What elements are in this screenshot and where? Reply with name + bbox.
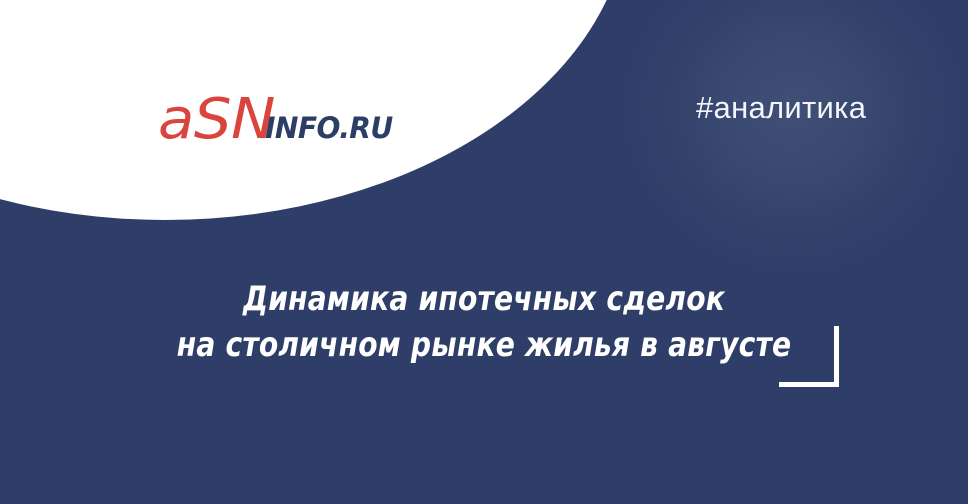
asninfo-logo[interactable]: aSNINFO.RU	[158, 92, 397, 150]
radial-glow	[618, 0, 968, 280]
hashtag-label[interactable]: #аналитика	[696, 92, 866, 123]
page-title-line-1: Динамика ипотечных сделок	[39, 276, 930, 322]
corner-bracket-vertical-bar	[834, 326, 839, 387]
logo-secondary-text: INFO.RU	[265, 114, 393, 143]
corner-bracket-horizontal-bar	[779, 382, 839, 387]
corner-bracket-decoration	[779, 326, 839, 387]
logo-primary-text: aSN	[158, 92, 275, 148]
analytics-banner: aSNINFO.RU #аналитика Динамика ипотечных…	[0, 0, 968, 504]
